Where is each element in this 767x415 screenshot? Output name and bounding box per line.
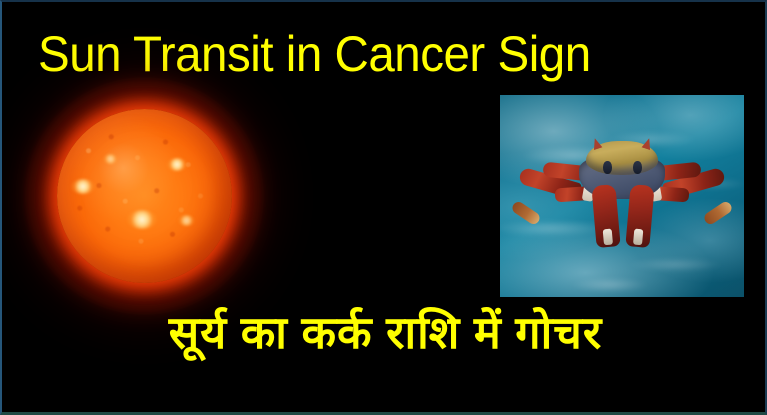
page-title: Sun Transit in Cancer Sign [38,24,703,84]
crab-illustration [517,135,727,265]
sun-flare [127,210,157,229]
astrology-banner: Sun Transit in Cancer Sign [0,0,767,415]
crab-claw [625,184,654,248]
crab-eye [603,161,612,174]
sun-photo [24,78,264,314]
sun-flare [178,215,195,226]
crab-claw-tip [603,229,613,246]
crab-claw-tip [633,229,643,246]
crab-eye [633,161,642,174]
page-subtitle-hindi: सूर्य का कर्क राशि में गोचर [2,302,767,364]
sun-flare [167,158,187,171]
sun-granulation-texture [57,109,232,283]
sun-flare [71,179,95,194]
sun-disc [57,109,232,283]
crab-photo [500,95,744,297]
sun-flare [103,154,118,164]
